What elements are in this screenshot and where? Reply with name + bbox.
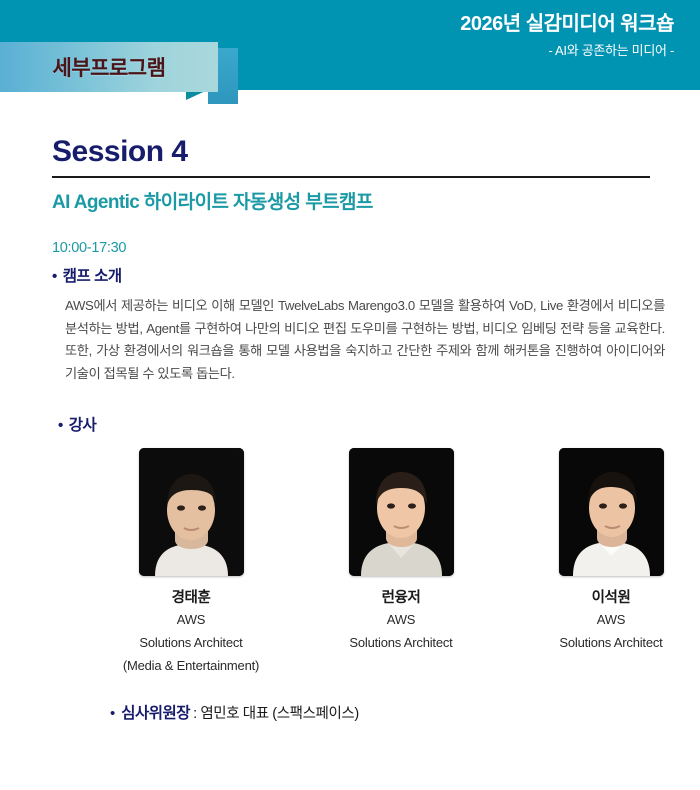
instructor-name: 런융저	[296, 586, 506, 607]
session-block: Session 4 AI Agentic 하이라이트 자동생성 부트캠프 10:…	[52, 135, 652, 723]
session-subject: AI Agentic 하이라이트 자동생성 부트캠프	[52, 187, 652, 214]
bullet-icon: •	[52, 269, 57, 284]
instructor-org: AWS	[296, 611, 506, 630]
instructor-org: AWS	[86, 611, 296, 630]
instructor-card: 경태훈 AWS Solutions Architect (Media & Ent…	[86, 448, 296, 676]
instructors-heading-label: 강사	[69, 413, 97, 435]
avatar	[139, 448, 244, 576]
instructor-name: 경태훈	[86, 586, 296, 607]
ribbon-banner: 세부프로그램	[0, 42, 218, 92]
instructor-role: Solutions Architect	[86, 634, 296, 653]
portrait-icon	[349, 448, 454, 576]
instructor-list: 경태훈 AWS Solutions Architect (Media & Ent…	[86, 448, 700, 676]
session-number: Session 4	[52, 135, 652, 168]
judge-row: • 심사위원장 : 염민호 대표 (스팩스페이스)	[110, 701, 652, 723]
avatar	[349, 448, 454, 576]
judge-value: : 염민호 대표 (스팩스페이스)	[193, 702, 359, 723]
header-text-group: 2026년 실감미디어 워크숍 - AI와 공존하는 미디어 -	[460, 12, 674, 59]
instructor-role: Solutions Architect	[296, 634, 506, 653]
instructor-detail: (Media & Entertainment)	[86, 657, 296, 676]
workshop-subtitle: - AI와 공존하는 미디어 -	[460, 40, 674, 59]
section-ribbon: 세부프로그램	[0, 42, 260, 98]
instructor-role: Solutions Architect	[506, 634, 700, 653]
portrait-icon	[559, 448, 664, 576]
judge-title: 심사위원장	[121, 701, 190, 723]
instructor-card: 이석원 AWS Solutions Architect	[506, 448, 700, 653]
session-divider	[52, 176, 650, 178]
bullet-icon: •	[58, 418, 63, 433]
camp-intro-heading: • 캠프 소개	[52, 264, 652, 286]
avatar	[559, 448, 664, 576]
instructor-name: 이석원	[506, 586, 700, 607]
instructor-card: 런융저 AWS Solutions Architect	[296, 448, 506, 653]
instructor-org: AWS	[506, 611, 700, 630]
workshop-title: 2026년 실감미디어 워크숍	[460, 12, 674, 37]
session-time: 10:00-17:30	[52, 240, 652, 256]
camp-intro-heading-label: 캠프 소개	[63, 264, 122, 286]
instructors-heading: • 강사	[58, 413, 652, 435]
camp-intro-paragraph: AWS에서 제공하는 비디오 이해 모델인 TwelveLabs Marengo…	[65, 295, 665, 386]
main-content: Session 4 AI Agentic 하이라이트 자동생성 부트캠프 10:…	[0, 90, 700, 723]
bullet-icon: •	[110, 706, 115, 721]
ribbon-label: 세부프로그램	[53, 52, 166, 82]
portrait-icon	[139, 448, 244, 576]
